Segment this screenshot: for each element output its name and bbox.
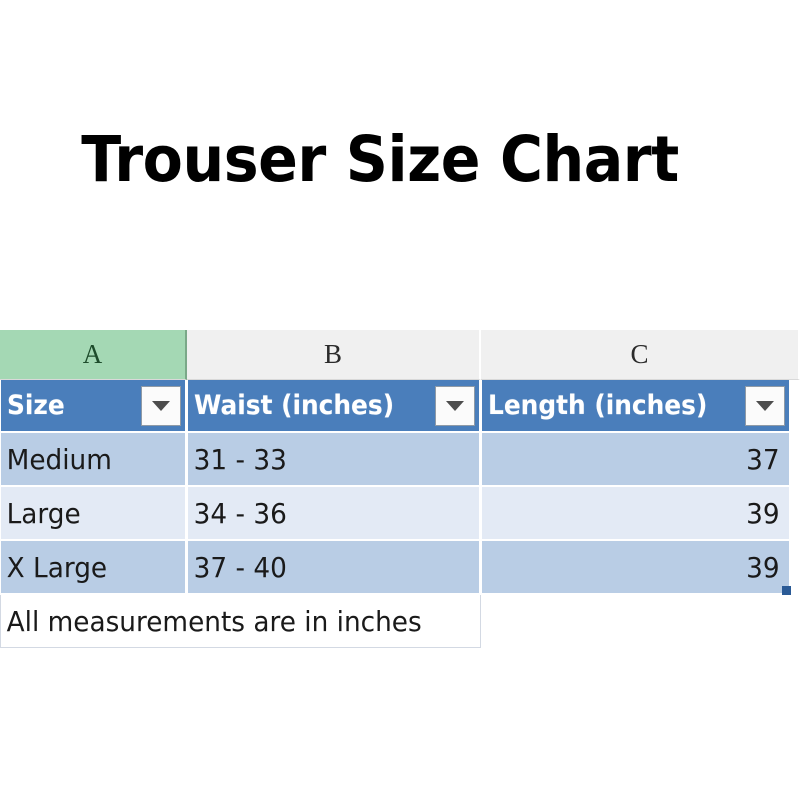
cell-length[interactable]: 39 <box>481 486 791 540</box>
cell-value-length: 37 <box>500 443 789 476</box>
cell-length[interactable]: 39 <box>481 540 791 594</box>
chevron-down-icon <box>446 401 464 411</box>
filter-dropdown-icon-size[interactable] <box>141 386 181 426</box>
cell-footnote[interactable]: All measurements are in inches <box>1 594 481 648</box>
cell-value-size: Large <box>1 497 174 530</box>
cell-size[interactable]: X Large <box>1 540 187 594</box>
cell-value-waist: 34 - 36 <box>188 497 462 530</box>
header-label-size: Size <box>7 390 65 421</box>
cell-length[interactable]: 37 <box>481 432 791 486</box>
cell-footnote-blank[interactable] <box>481 594 791 648</box>
table-row[interactable]: Medium 31 - 33 37 <box>1 432 791 486</box>
column-header-b[interactable]: B <box>187 330 481 380</box>
cell-size[interactable]: Large <box>1 486 187 540</box>
column-letter-strip: A B C <box>0 330 800 380</box>
table-row[interactable]: X Large 37 - 40 39 <box>1 540 791 594</box>
header-cell-length: Length (inches) <box>481 380 791 432</box>
table-header-row: Size Waist (inches) <box>1 380 791 432</box>
cell-waist[interactable]: 31 - 33 <box>187 432 481 486</box>
cell-value-size: X Large <box>1 551 174 584</box>
column-header-a[interactable]: A <box>0 330 187 380</box>
filter-dropdown-icon-waist[interactable] <box>435 386 475 426</box>
cell-value-size: Medium <box>1 443 174 476</box>
cell-value-waist: 37 - 40 <box>188 551 462 584</box>
size-chart-page: Trouser Size Chart A B C Size <box>0 0 800 800</box>
chevron-down-icon <box>152 401 170 411</box>
chevron-down-icon <box>756 401 774 411</box>
spreadsheet: A B C Size <box>0 330 800 648</box>
page-title: Trouser Size Chart <box>27 124 734 196</box>
column-header-c[interactable]: C <box>481 330 800 380</box>
table-row[interactable]: Large 34 - 36 39 <box>1 486 791 540</box>
filter-dropdown-icon-length[interactable] <box>745 386 785 426</box>
cell-size[interactable]: Medium <box>1 432 187 486</box>
footnote-row[interactable]: All measurements are in inches <box>1 594 791 648</box>
header-cell-waist: Waist (inches) <box>187 380 481 432</box>
selection-fill-handle[interactable] <box>782 586 791 595</box>
cell-waist[interactable]: 34 - 36 <box>187 486 481 540</box>
size-table: Size Waist (inches) <box>0 380 792 648</box>
header-label-waist: Waist (inches) <box>194 390 394 421</box>
footnote-text: All measurements are in inches <box>1 605 451 638</box>
cell-value-length: 39 <box>500 497 789 530</box>
cell-value-length: 39 <box>500 551 789 584</box>
cell-waist[interactable]: 37 - 40 <box>187 540 481 594</box>
header-label-length: Length (inches) <box>488 390 707 421</box>
cell-value-waist: 31 - 33 <box>188 443 462 476</box>
header-cell-size: Size <box>1 380 187 432</box>
